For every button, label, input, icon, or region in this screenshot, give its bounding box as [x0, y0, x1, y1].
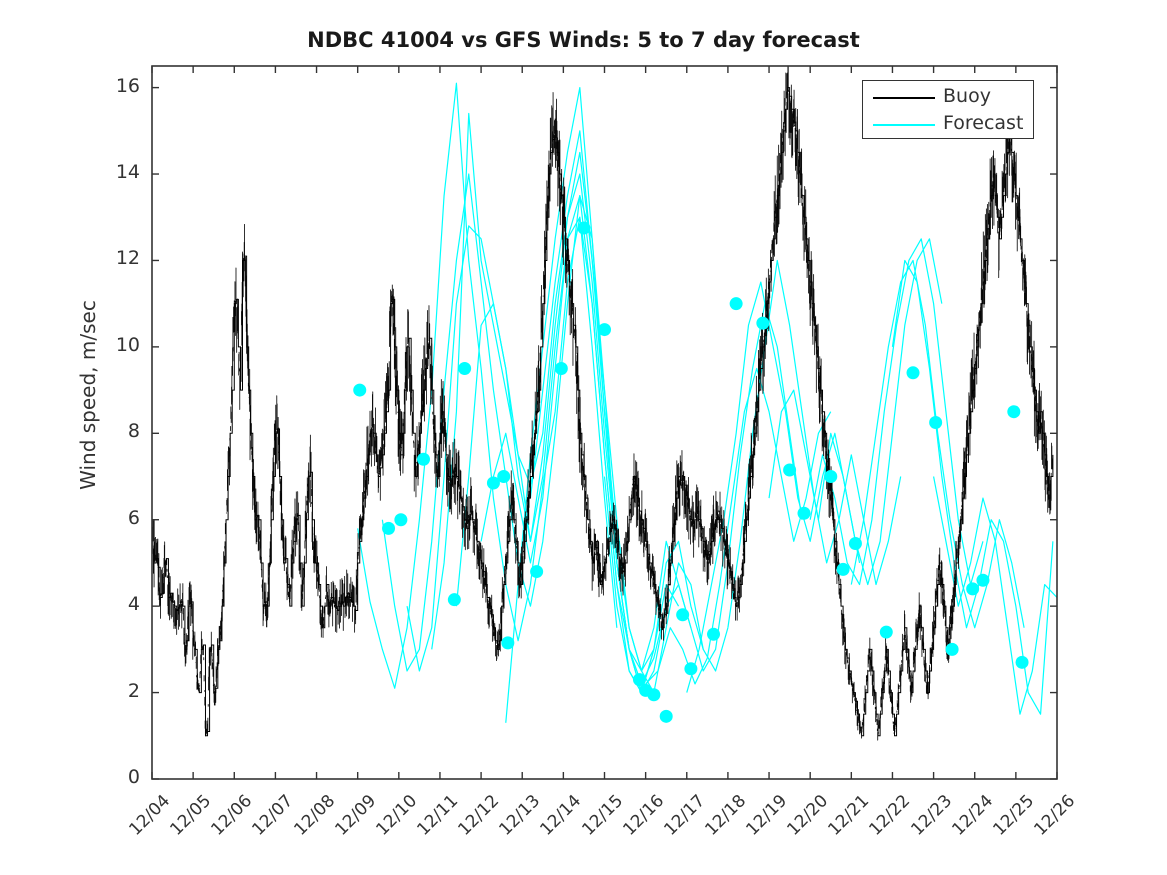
y-tick-label: 0 — [80, 766, 140, 788]
forecast-marker-point — [577, 222, 590, 235]
figure-canvas: NDBC 41004 vs GFS Winds: 5 to 7 day fore… — [0, 0, 1167, 875]
forecast-marker-point — [530, 565, 543, 578]
forecast-marker-point — [907, 366, 920, 379]
forecast-marker-point — [783, 464, 796, 477]
forecast-marker-point — [849, 537, 862, 550]
legend-swatch-line — [873, 124, 935, 126]
forecast-marker-point — [448, 593, 461, 606]
forecast-marker-point — [676, 608, 689, 621]
chart-legend: BuoyForecast — [862, 80, 1034, 139]
forecast-trace-4 — [456, 152, 678, 671]
forecast-marker-point — [756, 317, 769, 330]
forecast-marker-point — [966, 582, 979, 595]
forecast-marker-point — [837, 563, 850, 576]
forecast-marker-point — [976, 574, 989, 587]
forecast-marker-point — [880, 626, 893, 639]
forecast-marker-point — [458, 362, 471, 375]
forecast-marker-point — [598, 323, 611, 336]
y-tick-label: 16 — [80, 75, 140, 97]
forecast-marker-point — [929, 416, 942, 429]
axes-frame — [152, 66, 1057, 779]
forecast-marker-point — [382, 522, 395, 535]
forecast-marker-point — [824, 470, 837, 483]
forecast-marker-point — [497, 470, 510, 483]
legend-entry-forecast[interactable]: Forecast — [863, 111, 1033, 138]
forecast-marker-point — [946, 643, 959, 656]
forecast-marker-point — [394, 513, 407, 526]
buoy-step-detail — [152, 54, 1053, 740]
forecast-trace-5 — [481, 196, 691, 671]
forecast-trace-13 — [810, 239, 983, 585]
forecast-marker-point — [684, 662, 697, 675]
clipped-data — [152, 54, 1057, 740]
forecast-marker-point — [353, 384, 366, 397]
forecast-marker-point — [798, 507, 811, 520]
y-tick-label: 8 — [80, 420, 140, 442]
forecast-marker-point — [1016, 656, 1029, 669]
legend-label: Buoy — [943, 85, 991, 107]
legend-label: Forecast — [943, 112, 1023, 134]
y-tick-label: 12 — [80, 247, 140, 269]
y-tick-label: 2 — [80, 680, 140, 702]
forecast-trace-12 — [769, 239, 942, 585]
forecast-marker-point — [555, 362, 568, 375]
forecast-marker-point — [417, 453, 430, 466]
forecast-marker-point — [647, 688, 660, 701]
y-tick-label: 6 — [80, 507, 140, 529]
legend-entry-buoy[interactable]: Buoy — [863, 84, 1033, 111]
forecast-marker-point — [730, 297, 743, 310]
forecast-marker-point — [660, 710, 673, 723]
forecast-marker-point — [707, 628, 720, 641]
legend-swatch-line — [873, 97, 935, 99]
y-tick-label: 14 — [80, 161, 140, 183]
forecast-marker-point — [501, 636, 514, 649]
y-tick-label: 4 — [80, 593, 140, 615]
y-tick-label: 10 — [80, 334, 140, 356]
forecast-marker-point — [1007, 405, 1020, 418]
